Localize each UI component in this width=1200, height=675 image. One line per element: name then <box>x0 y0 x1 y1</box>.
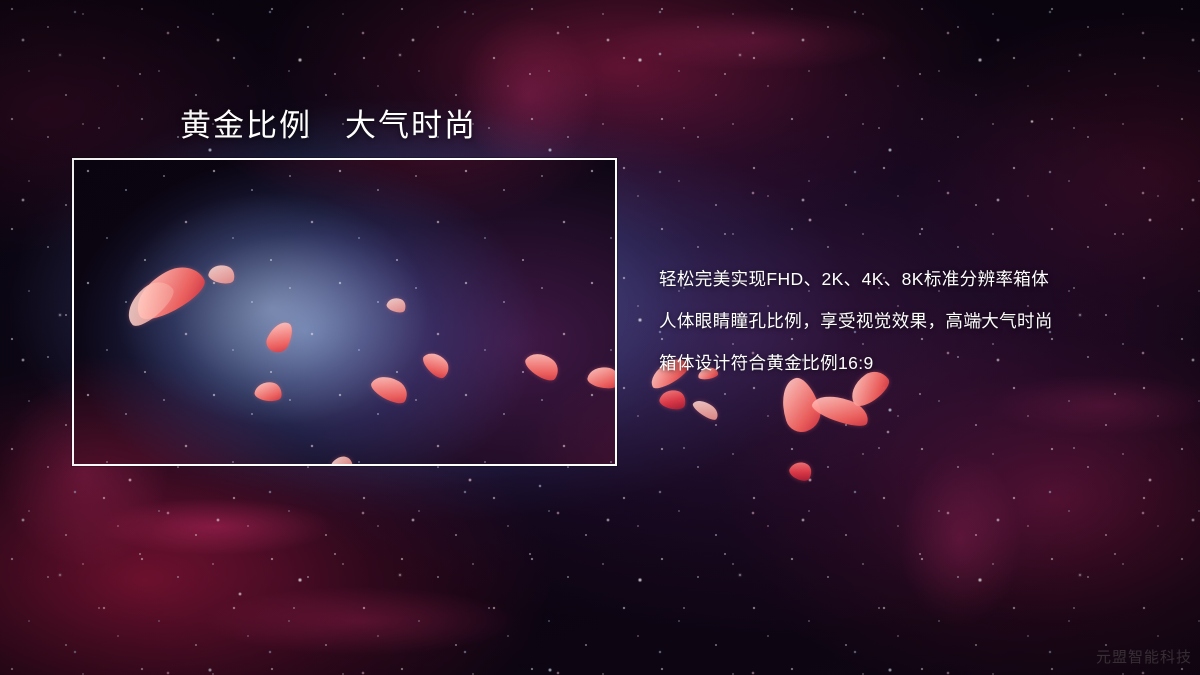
framed-image-inner <box>74 160 615 464</box>
presentation-slide: 黄金比例 大气时尚 轻松完美实现FHD、2K、4K、8K标准分辨率箱体 人体眼睛… <box>0 0 1200 675</box>
framed-image[interactable] <box>72 158 617 466</box>
watermark: 元盟智能科技 <box>1096 646 1192 667</box>
body-line-2: 人体眼睛瞳孔比例，享受视觉效果，高端大气时尚 <box>659 300 1179 342</box>
body-line-3: 箱体设计符合黄金比例16:9 <box>659 342 1179 384</box>
body-copy: 轻松完美实现FHD、2K、4K、8K标准分辨率箱体 人体眼睛瞳孔比例，享受视觉效… <box>659 258 1179 384</box>
body-line-1: 轻松完美实现FHD、2K、4K、8K标准分辨率箱体 <box>659 258 1179 300</box>
page-title: 黄金比例 大气时尚 <box>180 100 477 145</box>
